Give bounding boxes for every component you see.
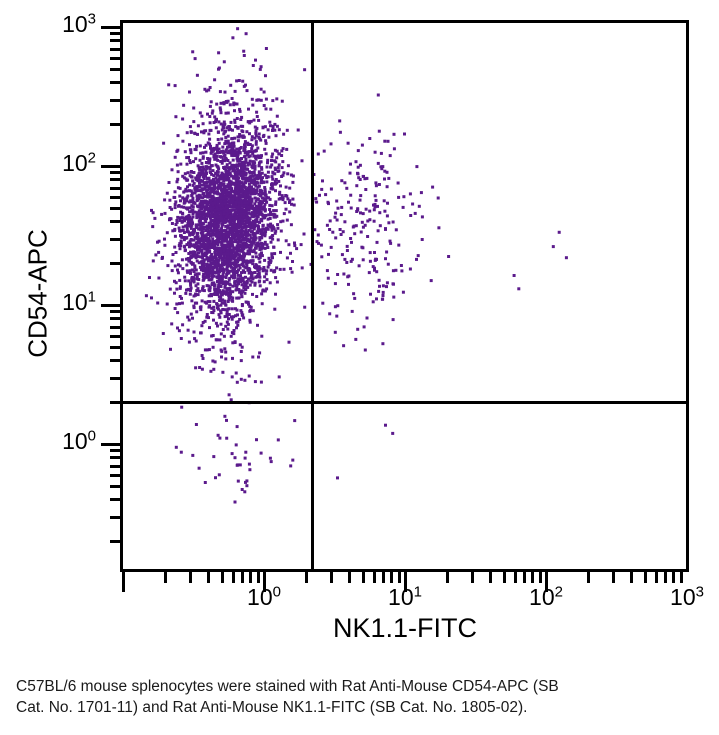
y-axis-tick-labels: 103102101100 <box>0 20 96 572</box>
x-axis-minor-tick <box>164 572 167 583</box>
y-axis-tick-label: 101 <box>0 289 96 316</box>
x-axis-tick-label: 103 <box>627 584 719 611</box>
x-axis-minor-tick <box>207 572 210 583</box>
x-axis-minor-tick <box>531 572 534 583</box>
y-axis-major-tick <box>101 443 121 446</box>
x-axis-minor-tick <box>382 572 385 583</box>
x-axis-minor-tick <box>664 572 667 583</box>
x-axis-minor-tick <box>471 572 474 583</box>
x-axis-minor-tick <box>232 572 235 583</box>
x-axis-minor-tick <box>672 572 675 583</box>
scatter-points-layer <box>123 23 686 569</box>
y-axis-major-tick <box>101 26 121 29</box>
x-axis-title: NK1.1-FITC <box>120 613 690 644</box>
x-axis-tick-label: 101 <box>345 584 465 611</box>
x-axis-minor-tick <box>249 572 252 583</box>
x-axis-minor-tick <box>680 572 683 583</box>
x-axis-minor-tick <box>630 572 633 583</box>
y-axis-major-tick <box>101 165 121 168</box>
x-axis-minor-tick <box>221 572 224 583</box>
horizontal-gate-line[interactable] <box>123 401 686 404</box>
x-axis-minor-tick <box>446 572 449 583</box>
x-axis-minor-tick <box>514 572 517 583</box>
x-axis-minor-tick <box>305 572 308 583</box>
x-axis-minor-tick <box>348 572 351 583</box>
x-axis-minor-tick <box>398 572 401 583</box>
x-axis-tick-label: 100 <box>204 584 324 611</box>
x-axis-minor-tick <box>655 572 658 583</box>
vertical-gate-line[interactable] <box>311 23 314 569</box>
x-axis-minor-tick <box>503 572 506 583</box>
x-axis-minor-tick <box>612 572 615 583</box>
x-axis-minor-tick <box>257 572 260 583</box>
y-axis-tick-label: 102 <box>0 150 96 177</box>
x-axis-minor-tick <box>189 572 192 583</box>
x-axis-minor-tick <box>362 572 365 583</box>
x-axis-minor-tick <box>539 572 542 583</box>
x-axis-minor-tick <box>241 572 244 583</box>
x-axis-minor-tick <box>523 572 526 583</box>
figure-caption: C57BL/6 mouse splenocytes were stained w… <box>16 676 676 718</box>
x-axis-minor-tick <box>587 572 590 583</box>
y-axis-major-tick <box>101 304 121 307</box>
caption-line-1: C57BL/6 mouse splenocytes were stained w… <box>16 676 676 697</box>
x-axis-minor-tick <box>644 572 647 583</box>
flow-cytometry-figure: CD54-APC 103102101100 100101102103 NK1.1… <box>0 0 719 735</box>
y-axis-tick-label: 100 <box>0 428 96 455</box>
x-axis-tick-label: 102 <box>486 584 606 611</box>
caption-line-2: Cat. No. 1701-11) and Rat Anti-Mouse NK1… <box>16 697 676 718</box>
x-axis-ticks <box>120 572 689 573</box>
x-axis-minor-tick <box>373 572 376 583</box>
x-axis-minor-tick <box>390 572 393 583</box>
x-axis-minor-tick <box>330 572 333 583</box>
scatter-plot-panel <box>120 20 689 572</box>
y-axis-tick-label: 103 <box>0 11 96 38</box>
x-axis-minor-tick <box>489 572 492 583</box>
